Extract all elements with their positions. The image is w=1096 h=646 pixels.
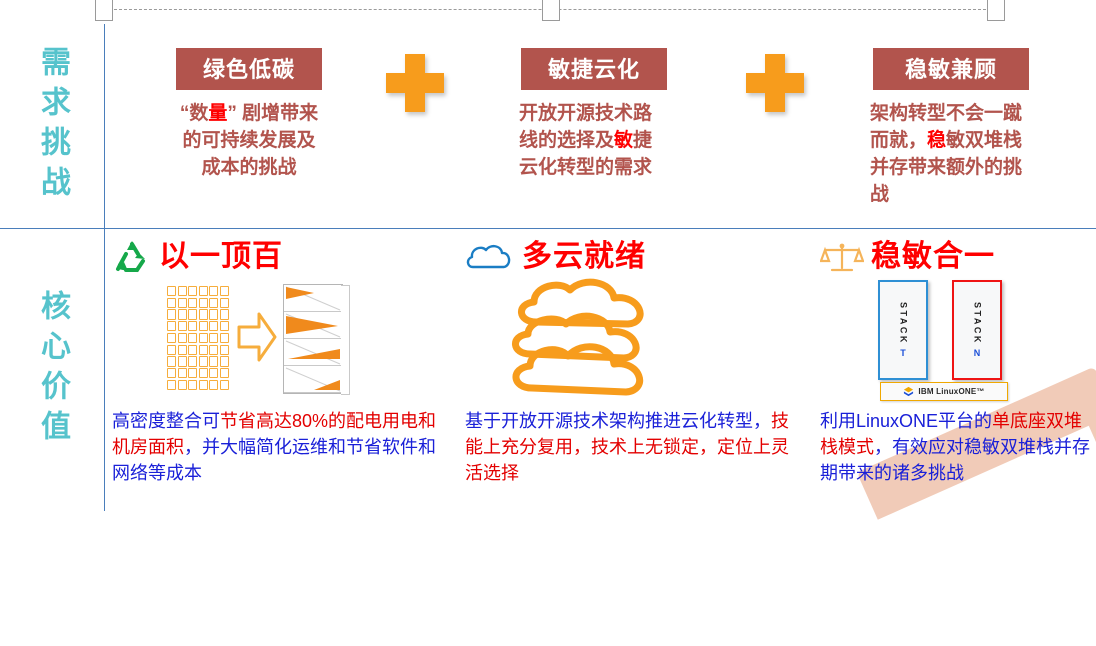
challenge-card-green-low-carbon: 绿色低碳 “数量” 剧增带来的可持续发展及成本的挑战 <box>160 48 338 182</box>
plus-bar-vertical <box>405 54 425 112</box>
challenge-body-3: 架构转型不会一蹴而就，稳敏双堆栈并存带来额外的挑战 <box>870 101 1032 209</box>
plus-bar-vertical <box>765 54 785 112</box>
challenge-body-1-pre: “数 <box>180 103 209 124</box>
stack-box-traditional-label: STACK <box>899 302 908 345</box>
rack-slot <box>284 339 342 366</box>
stack-box-new-tag: N <box>974 348 981 358</box>
stack-box-traditional: STACK T <box>878 280 928 380</box>
plus-operator-icon-2 <box>746 54 804 112</box>
value-title-1: 以一顶百 <box>159 242 283 272</box>
challenge-body-3-highlight: 稳 <box>927 130 946 151</box>
server-rack-illustration <box>283 284 343 394</box>
rack-slot <box>284 366 342 393</box>
value-column-stable-agile-unified: 稳敏合一 STACK T STACK N IBM LinuxONE™ 利用Lin… <box>820 236 1092 278</box>
stack-box-new-label: STACK <box>973 302 982 345</box>
vertical-divider <box>104 24 105 511</box>
slide-guide-ruler <box>95 0 1005 22</box>
value-title-2: 多云就绪 <box>522 242 646 272</box>
value-text-3-pre: 利用LinuxONE平台的 <box>820 411 992 431</box>
balance-scale-icon <box>820 240 864 274</box>
value-text-1-pre: 高密度整合可 <box>112 411 220 431</box>
linuxone-platform-bar: IBM LinuxONE™ <box>880 382 1008 401</box>
right-arrow-icon <box>237 310 277 364</box>
horizontal-divider <box>0 228 1096 229</box>
value-text-2-pre: 基于开放开源技术架构推进云化转型， <box>465 411 771 431</box>
challenge-body-2-highlight: 敏 <box>614 130 633 151</box>
row-label-challenges: 需求挑战 <box>0 24 104 228</box>
value-column-multicloud-ready: 多云就绪 基于开放开源技术架构推进云化转型，技能上充分复用，技术上无锁定，定位上… <box>465 236 795 278</box>
density-consolidation-illustration <box>167 284 342 394</box>
challenge-body-2: 开放开源技术路线的选择及敏捷云化转型的需求 <box>519 101 669 182</box>
guide-dashed-line <box>109 9 991 10</box>
value-title-3: 稳敏合一 <box>871 242 995 272</box>
challenge-badge-1: 绿色低碳 <box>176 48 322 90</box>
dual-stack-platform-illustration: STACK T STACK N IBM LinuxONE™ <box>868 280 1033 402</box>
linuxone-logo-icon <box>903 386 914 397</box>
guide-tick-center <box>542 0 560 21</box>
row-label-core-value: 核心价值 <box>0 228 104 511</box>
linuxone-platform-label: IBM LinuxONE™ <box>918 387 984 396</box>
challenge-card-agile-cloud: 敏捷云化 开放开源技术路线的选择及敏捷云化转型的需求 <box>505 48 683 182</box>
value-header-2: 多云就绪 <box>465 236 795 278</box>
recycle-icon <box>112 239 152 275</box>
value-column-one-serves-hundred: 以一顶百 <box>112 236 442 278</box>
challenge-badge-2: 敏捷云化 <box>521 48 667 90</box>
stacked-clouds-illustration <box>500 278 690 403</box>
value-text-1: 高密度整合可节省高达80%的配电用电和机房面积，并大幅简化运维和节省软件和网络等… <box>112 408 442 486</box>
cloud-icon <box>465 241 515 273</box>
challenge-body-1-highlight: 量 <box>208 103 227 124</box>
challenge-body-1: “数量” 剧增带来的可持续发展及成本的挑战 <box>179 101 319 182</box>
rack-slot <box>284 312 342 339</box>
value-text-2: 基于开放开源技术架构推进云化转型，技能上充分复用，技术上无锁定，定位上灵活选择 <box>465 408 795 486</box>
value-header-3: 稳敏合一 <box>820 236 1092 278</box>
stack-box-new: STACK N <box>952 280 1002 380</box>
challenge-badge-3: 稳敏兼顾 <box>873 48 1029 90</box>
rack-slot <box>284 285 342 312</box>
rack-side-panel <box>341 285 350 395</box>
guide-tick-left <box>95 0 113 21</box>
value-header-1: 以一顶百 <box>112 236 442 278</box>
row-label-core-value-text: 核心价值 <box>37 290 67 450</box>
plus-operator-icon-1 <box>386 54 444 112</box>
value-text-3: 利用LinuxONE平台的单底座双堆栈模式，有效应对稳敏双堆栈并存期带来的诸多挑… <box>820 408 1092 486</box>
challenge-card-stable-agile: 稳敏兼顾 架构转型不会一蹴而就，稳敏双堆栈并存带来额外的挑战 <box>862 48 1040 209</box>
stack-box-traditional-tag: T <box>900 348 906 358</box>
row-label-challenges-text: 需求挑战 <box>37 46 67 206</box>
cloud-stack-svg <box>500 278 690 403</box>
server-square-grid <box>167 286 229 390</box>
guide-tick-right <box>987 0 1005 21</box>
